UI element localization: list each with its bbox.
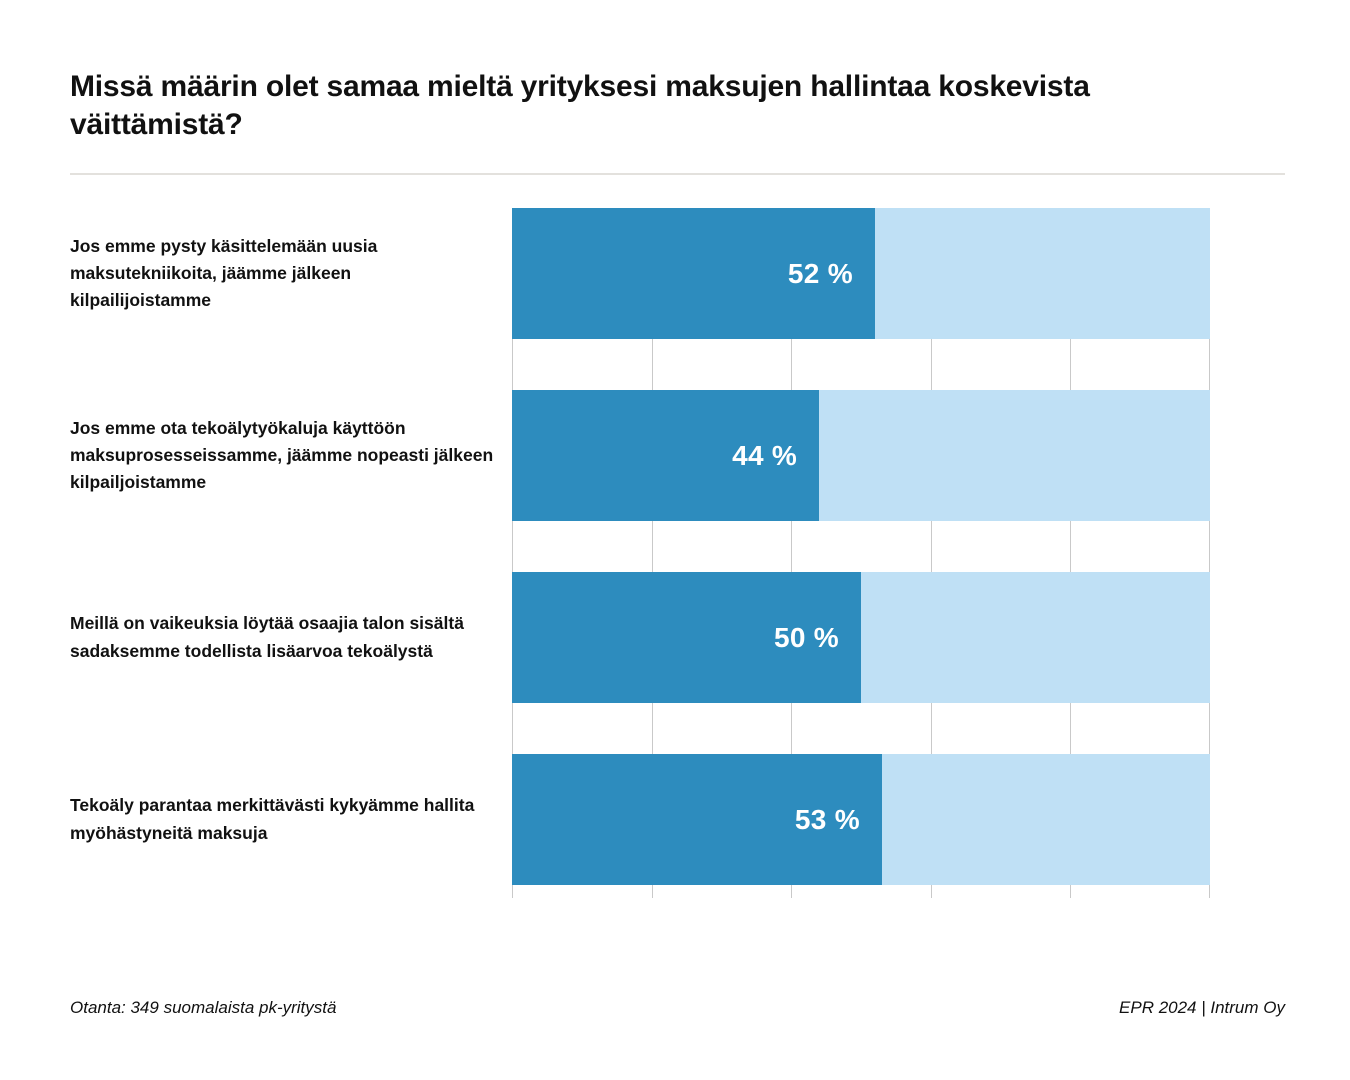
bar-value-label: 50 % [774,622,839,654]
bar-track: 53 % [512,754,1210,885]
chart-page: Missä määrin olet samaa mieltä yritykses… [0,0,1350,1080]
bar-category-label: Meillä on vaikeuksia löytää osaajia talo… [70,610,512,664]
bar-category-label: Jos emme ota tekoälytyökaluja käyttöön m… [70,415,512,496]
bar-track: 50 % [512,572,1210,703]
chart-footer: Otanta: 349 suomalaista pk-yritystä EPR … [70,998,1285,1018]
bar-fill: 44 % [512,390,819,521]
bar-fill: 52 % [512,208,875,339]
bar-track: 44 % [512,390,1210,521]
bar-rows: Jos emme pysty käsittelemään uusia maksu… [70,208,1210,885]
bar-fill: 53 % [512,754,882,885]
source-note: EPR 2024 | Intrum Oy [1119,998,1285,1018]
bar-row: Jos emme ota tekoälytyökaluja käyttöön m… [70,390,1210,521]
page-title: Missä määrin olet samaa mieltä yritykses… [70,68,1250,145]
bar-track: 52 % [512,208,1210,339]
bar-row: Meillä on vaikeuksia löytää osaajia talo… [70,572,1210,703]
chart-header: Missä määrin olet samaa mieltä yritykses… [70,68,1285,145]
bar-row: Tekoäly parantaa merkittävästi kykyämme … [70,754,1210,885]
bar-fill: 50 % [512,572,861,703]
title-divider [70,173,1285,175]
bar-value-label: 44 % [732,440,797,472]
bar-value-label: 53 % [795,804,860,836]
bar-category-label: Tekoäly parantaa merkittävästi kykyämme … [70,792,512,846]
bar-value-label: 52 % [788,258,853,290]
bar-category-label: Jos emme pysty käsittelemään uusia maksu… [70,233,512,314]
bar-row: Jos emme pysty käsittelemään uusia maksu… [70,208,1210,339]
sample-note: Otanta: 349 suomalaista pk-yritystä [70,998,336,1018]
bar-chart: Jos emme pysty käsittelemään uusia maksu… [70,208,1210,898]
